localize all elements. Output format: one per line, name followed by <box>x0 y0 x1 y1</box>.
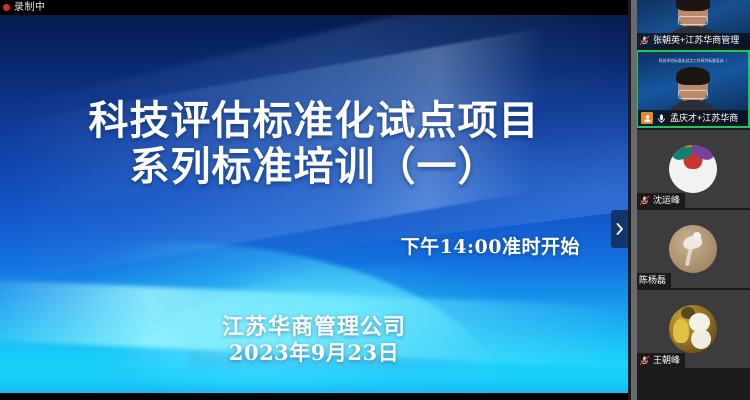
participant-name: 王朝峰 <box>653 355 680 366</box>
figure-glasses <box>678 90 708 99</box>
slide-title: 科技评估标准化试点项目 系列标准培训（一） <box>0 98 628 190</box>
participant-namebar: 沈运峰 <box>636 193 685 208</box>
recording-label: 录制中 <box>14 3 46 13</box>
participant-tile[interactable]: 沈运峰 <box>636 130 750 208</box>
participant-name: 张朝英+江苏华商管理 <box>653 35 739 46</box>
shared-screen-slide: 科技评估标准化试点项目 系列标准培训（一） 下午14:00准时开始 江苏华商管理… <box>0 14 628 393</box>
slide-organization: 江苏华商管理公司 <box>0 314 628 340</box>
shared-slide-thumbnail: 科技评估标准化试点工作系列标准培训（ <box>644 56 742 65</box>
figure-hair <box>676 0 710 11</box>
figure-glasses <box>678 16 708 25</box>
participant-tile[interactable]: 王朝峰 <box>636 290 750 368</box>
mic-muted-icon <box>639 355 650 366</box>
recording-dot-icon <box>3 4 10 11</box>
mic-muted-icon <box>639 195 650 206</box>
participant-name: 陈杨磊 <box>639 275 666 286</box>
participant-namebar: 王朝峰 <box>636 353 685 368</box>
shared-slide-thumbnail-title: 科技评估标准化试点工作系列标准培训（ <box>659 58 727 63</box>
avatar <box>669 225 717 273</box>
participant-tile[interactable]: 陈杨磊 <box>636 210 750 288</box>
participant-tile[interactable]: 张朝英+江苏华商管理 <box>636 0 750 48</box>
collapse-panel-button[interactable] <box>611 210 628 248</box>
slide-date: 2023年9月23日 <box>0 340 628 365</box>
figure-hair <box>676 67 710 85</box>
participant-namebar: 张朝英+江苏华商管理 <box>636 33 750 48</box>
participants-scrollbar[interactable] <box>631 0 637 400</box>
mic-muted-icon <box>639 35 650 46</box>
meeting-screen-share-view: 录制中 科技评估标准化试点项目 系列标准培训（一） 下午14:00准时开始 江苏… <box>0 0 750 400</box>
participants-panel: 张朝英+江苏华商管理 科技评估标准化试点工作系列标准培训（ <box>628 0 750 400</box>
avatar <box>669 145 717 193</box>
recording-indicator: 录制中 <box>0 0 628 15</box>
slide-text-layer: 科技评估标准化试点项目 系列标准培训（一） 下午14:00准时开始 江苏华商管理… <box>0 14 628 393</box>
avatar-floral-bloom <box>691 329 711 349</box>
host-badge-icon <box>641 112 653 124</box>
mic-on-icon <box>656 113 667 124</box>
participant-name: 孟庆才+江苏华商 <box>670 113 738 124</box>
participant-tile-active[interactable]: 科技评估标准化试点工作系列标准培训（ <box>636 50 750 128</box>
avatar-floral-leaf <box>673 319 689 343</box>
participant-namebar: 孟庆才+江苏华商 <box>638 110 748 126</box>
avatar-bird-head <box>693 232 701 240</box>
participant-tile-list: 张朝英+江苏华商管理 科技评估标准化试点工作系列标准培训（ <box>636 0 750 370</box>
participant-namebar: 陈杨磊 <box>636 273 671 288</box>
participant-name: 沈运峰 <box>653 195 680 206</box>
slide-subtitle: 下午14:00准时开始 <box>401 236 580 258</box>
avatar <box>669 305 717 353</box>
